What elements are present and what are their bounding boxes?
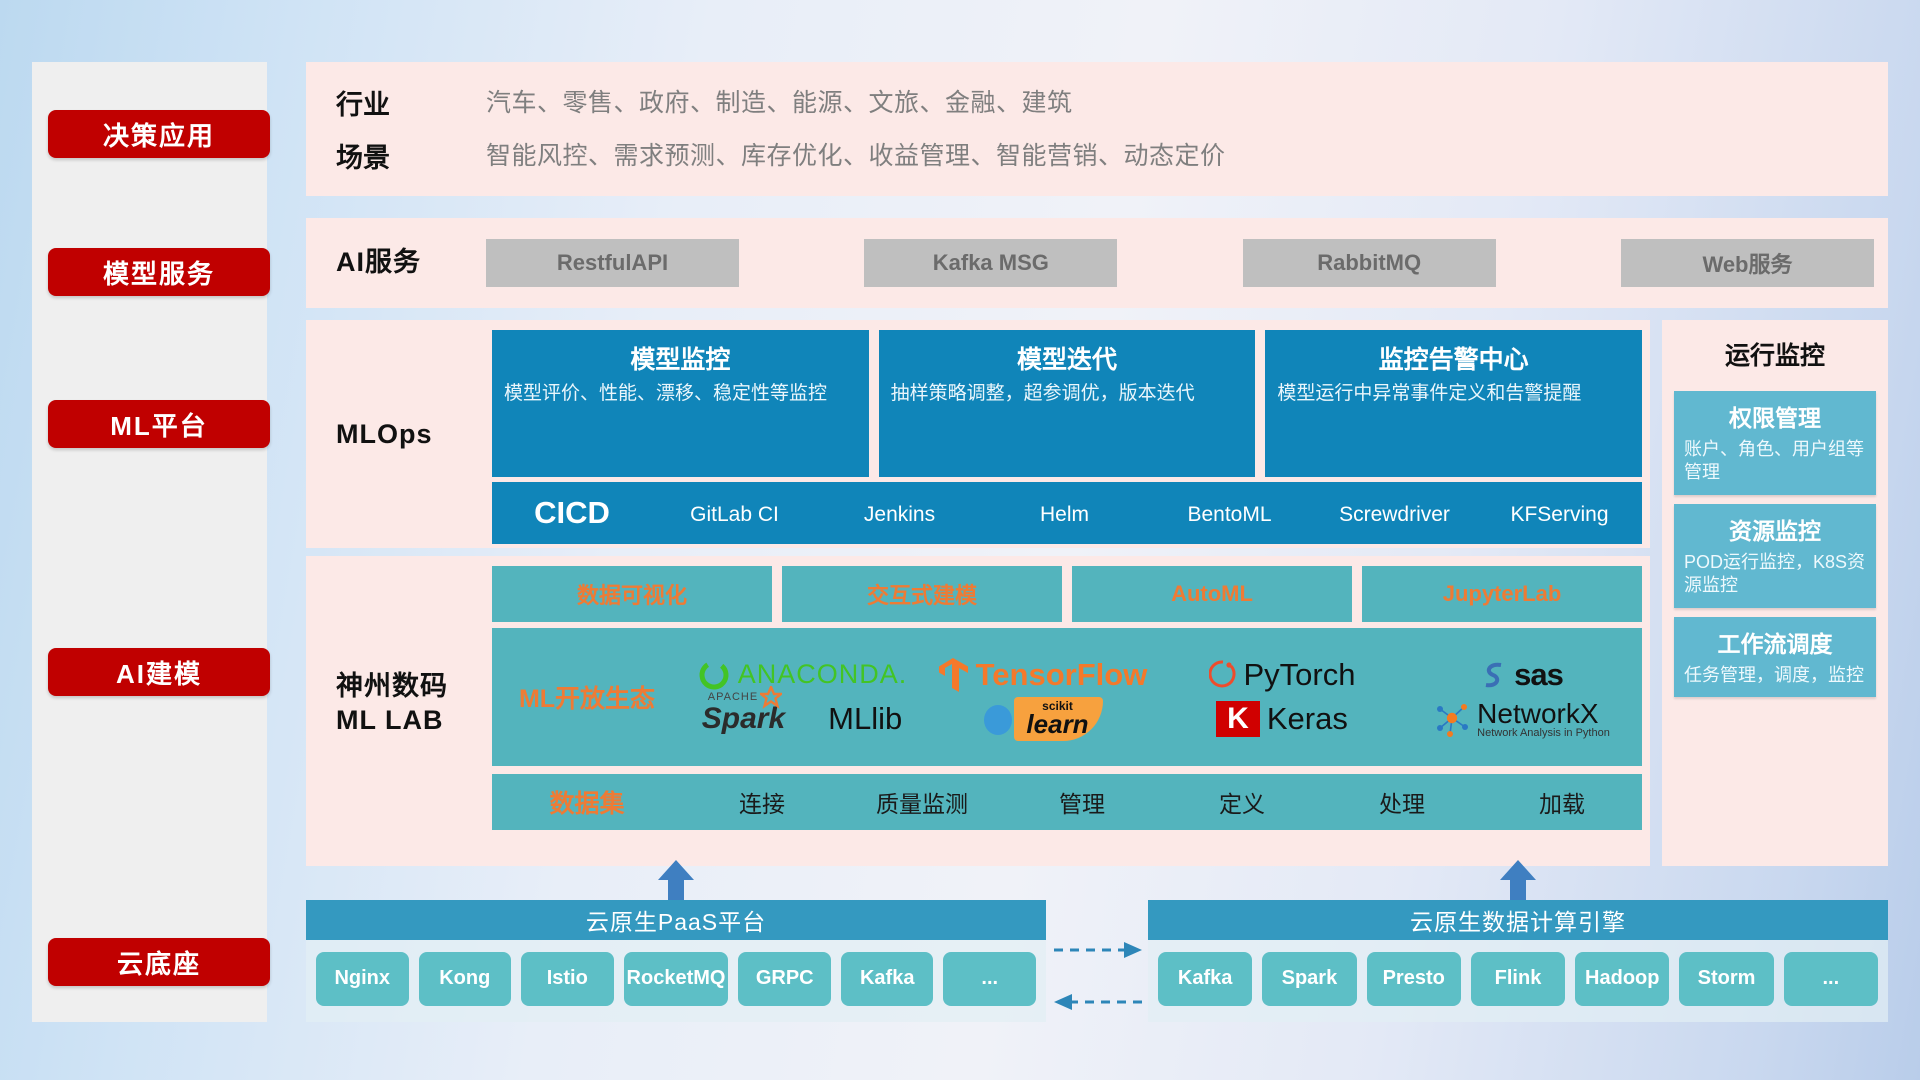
ai-service-panel: AI服务 RestfulAPI Kafka MSG RabbitMQ Web服务	[306, 218, 1888, 308]
cicd-tool-helm[interactable]: Helm	[982, 482, 1147, 544]
ai-service-chip-restfulapi[interactable]: RestfulAPI	[486, 239, 739, 287]
paas-platform-box: 云原生PaaS平台 Nginx Kong Istio RocketMQ GRPC…	[306, 900, 1046, 1022]
cicd-tool-gitlab-ci[interactable]: GitLab CI	[652, 482, 817, 544]
ml-lab-label-line1: 神州数码	[336, 670, 448, 704]
card-title: 监控告警中心	[1277, 340, 1630, 376]
monitor-card-permission[interactable]: 权限管理 账户、角色、用户组等管理	[1674, 391, 1876, 495]
cicd-row: CICD GitLab CI Jenkins Helm BentoML Scre…	[492, 482, 1642, 544]
networkx-subtitle: Network Analysis in Python	[1477, 728, 1610, 739]
industry-values: 汽车、零售、政府、制造、能源、文旅、金融、建筑	[486, 83, 1888, 122]
ai-service-chip-rabbitmq[interactable]: RabbitMQ	[1243, 239, 1496, 287]
tier-rail	[32, 62, 267, 1022]
cicd-tool-screwdriver[interactable]: Screwdriver	[1312, 482, 1477, 544]
lab-tab-automl[interactable]: AutoML	[1072, 566, 1352, 622]
mlops-card-model-iteration[interactable]: 模型迭代 抽样策略调整，超参调优，版本迭代	[879, 330, 1256, 477]
arrow-up-paas	[654, 858, 698, 902]
dataset-label: 数据集	[492, 784, 682, 820]
sas-text: sas	[1514, 657, 1563, 693]
scikit-blue-blob-icon	[981, 701, 1015, 737]
scenario-values: 智能风控、需求预测、库存优化、收益管理、智能营销、动态定价	[486, 136, 1888, 175]
runtime-monitoring-panel: 运行监控 权限管理 账户、角色、用户组等管理 资源监控 POD运行监控，K8S资…	[1662, 320, 1888, 866]
tensorflow-text: TensorFlow	[976, 657, 1148, 693]
card-title: 资源监控	[1684, 512, 1866, 546]
paas-chip-grpc[interactable]: GRPC	[738, 952, 831, 1006]
networkx-text: NetworkX	[1477, 700, 1610, 728]
tier-chip-ml-platform[interactable]: ML平台	[48, 400, 270, 448]
ai-service-chip-kafka-msg[interactable]: Kafka MSG	[864, 239, 1117, 287]
monitor-card-resource[interactable]: 资源监控 POD运行监控，K8S资源监控	[1674, 504, 1876, 608]
keras-k-icon: K	[1216, 701, 1260, 737]
sas-icon	[1481, 660, 1507, 690]
engine-chip-flink[interactable]: Flink	[1471, 952, 1565, 1006]
paas-chip-istio[interactable]: Istio	[521, 952, 614, 1006]
tier-chip-cloud-base[interactable]: 云底座	[48, 938, 270, 986]
paas-chip-more[interactable]: ...	[943, 952, 1036, 1006]
industries-scenarios-panel: 行业 汽车、零售、政府、制造、能源、文旅、金融、建筑 场景 智能风控、需求预测、…	[306, 62, 1888, 196]
dataset-item-process[interactable]: 处理	[1322, 785, 1482, 819]
runtime-monitoring-title: 运行监控	[1662, 320, 1888, 382]
bidirectional-link-arrows	[1050, 930, 1146, 1022]
pytorch-icon	[1209, 658, 1237, 692]
ai-service-label: AI服务	[336, 246, 486, 280]
engine-chip-kafka[interactable]: Kafka	[1158, 952, 1252, 1006]
tier-chip-ai-modeling[interactable]: AI建模	[48, 648, 270, 696]
engine-chip-presto[interactable]: Presto	[1367, 952, 1461, 1006]
paas-chip-kong[interactable]: Kong	[419, 952, 512, 1006]
dataset-row: 数据集 连接 质量监测 管理 定义 处理 加载	[492, 774, 1642, 830]
tier-chip-decision-apps[interactable]: 决策应用	[48, 110, 270, 158]
keras-logo: K Keras	[1216, 701, 1348, 737]
lab-tab-interactive-modeling[interactable]: 交互式建模	[782, 566, 1062, 622]
card-title: 工作流调度	[1684, 625, 1866, 659]
dataset-item-quality[interactable]: 质量监测	[842, 785, 1002, 819]
tier-chip-model-service[interactable]: 模型服务	[48, 248, 270, 296]
tier-label: 模型服务	[103, 254, 215, 291]
tier-label: 云底座	[117, 944, 201, 981]
dataset-item-connect[interactable]: 连接	[682, 785, 842, 819]
learn-text: learn	[1026, 713, 1088, 736]
cicd-label: CICD	[492, 495, 652, 531]
mlops-label: MLOps	[336, 418, 433, 452]
engine-chip-hadoop[interactable]: Hadoop	[1575, 952, 1669, 1006]
sas-logo: sas	[1481, 657, 1563, 693]
cicd-tool-jenkins[interactable]: Jenkins	[817, 482, 982, 544]
engine-chip-storm[interactable]: Storm	[1679, 952, 1773, 1006]
card-desc: 模型运行中异常事件定义和告警提醒	[1277, 382, 1630, 406]
tier-label: 决策应用	[103, 116, 215, 153]
engine-chip-spark[interactable]: Spark	[1262, 952, 1356, 1006]
mlops-panel: MLOps 模型监控 模型评价、性能、漂移、稳定性等监控 模型迭代 抽样策略调整…	[306, 320, 1650, 548]
paas-chip-rocketmq[interactable]: RocketMQ	[624, 952, 729, 1006]
paas-chip-kafka[interactable]: Kafka	[841, 952, 934, 1006]
networkx-graph-icon	[1434, 701, 1470, 737]
lab-tab-data-visualization[interactable]: 数据可视化	[492, 566, 772, 622]
ai-service-chip-web-service[interactable]: Web服务	[1621, 239, 1874, 287]
spark-star-icon	[760, 686, 782, 710]
monitor-card-workflow[interactable]: 工作流调度 任务管理，调度，监控	[1674, 617, 1876, 697]
ml-lab-label: 神州数码 ML LAB	[336, 670, 448, 738]
keras-text: Keras	[1267, 701, 1348, 737]
scenario-label: 场景	[336, 136, 486, 175]
card-desc: 任务管理，调度，监控	[1684, 664, 1866, 687]
card-desc: 模型评价、性能、漂移、稳定性等监控	[504, 382, 857, 406]
lab-tab-jupyterlab[interactable]: JupyterLab	[1362, 566, 1642, 622]
scikit-learn-logo: scikit learn	[981, 697, 1102, 741]
tensorflow-logo: TensorFlow	[937, 656, 1148, 694]
cicd-tool-bentoml[interactable]: BentoML	[1147, 482, 1312, 544]
ml-ecosystem-label: ML开放生态	[492, 679, 682, 715]
pytorch-logo: PyTorch	[1209, 657, 1356, 693]
tier-label: ML平台	[110, 406, 208, 443]
ml-lab-label-line2: ML LAB	[336, 704, 448, 738]
data-compute-engine-box: 云原生数据计算引擎 Kafka Spark Presto Flink Hadoo…	[1148, 900, 1888, 1022]
mlops-card-alert-center[interactable]: 监控告警中心 模型运行中异常事件定义和告警提醒	[1265, 330, 1642, 477]
dataset-item-load[interactable]: 加载	[1482, 785, 1642, 819]
networkx-logo: NetworkX Network Analysis in Python	[1434, 700, 1610, 739]
arrow-up-data-engine	[1496, 858, 1540, 902]
dataset-item-define[interactable]: 定义	[1162, 785, 1322, 819]
spark-mllib-logo: APACHE Spark MLlib	[702, 701, 902, 737]
dataset-item-manage[interactable]: 管理	[1002, 785, 1162, 819]
card-desc: POD运行监控，K8S资源监控	[1684, 551, 1866, 598]
mlops-card-model-monitoring[interactable]: 模型监控 模型评价、性能、漂移、稳定性等监控	[492, 330, 869, 477]
tensorflow-icon	[937, 656, 969, 694]
tier-label: AI建模	[116, 654, 202, 691]
ml-lab-panel: 神州数码 ML LAB 数据可视化 交互式建模 AutoML JupyterLa…	[306, 556, 1650, 866]
anaconda-icon	[697, 658, 731, 692]
anaconda-logo: ANACONDA.	[697, 658, 908, 692]
engine-chip-more[interactable]: ...	[1784, 952, 1878, 1006]
card-desc: 账户、角色、用户组等管理	[1684, 438, 1866, 485]
paas-platform-title: 云原生PaaS平台	[306, 900, 1046, 940]
data-compute-engine-title: 云原生数据计算引擎	[1148, 900, 1888, 940]
mllib-text: MLlib	[828, 701, 902, 737]
pytorch-text: PyTorch	[1244, 657, 1356, 693]
card-title: 模型监控	[504, 340, 857, 376]
spark-apache-text: APACHE	[708, 691, 758, 703]
paas-chip-nginx[interactable]: Nginx	[316, 952, 409, 1006]
card-title: 模型迭代	[891, 340, 1244, 376]
cicd-tool-kfserving[interactable]: KFServing	[1477, 482, 1642, 544]
ml-open-ecosystem: ML开放生态 ANACONDA. TensorFlow	[492, 628, 1642, 766]
architecture-diagram: 决策应用 模型服务 ML平台 AI建模 云底座 行业 汽车、零售、政府、制造、能…	[0, 0, 1920, 1080]
card-title: 权限管理	[1684, 399, 1866, 433]
industry-label: 行业	[336, 83, 486, 122]
card-desc: 抽样策略调整，超参调优，版本迭代	[891, 382, 1244, 406]
